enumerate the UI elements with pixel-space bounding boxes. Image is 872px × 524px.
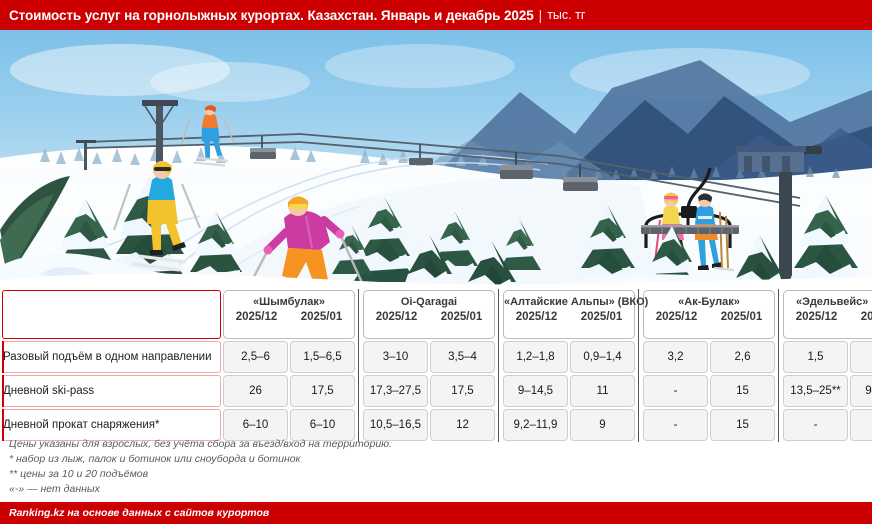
- period-2-1: 2025/01: [569, 311, 634, 323]
- resort-group-header-3: «Ак-Булак» 2025/12 2025/01: [643, 290, 775, 339]
- row-label-0: Разовый подъём в одном направлении: [2, 341, 221, 373]
- footnotes: Цены указаны для взрослых, без учёта сбо…: [9, 437, 709, 497]
- cell-1-7: 15: [710, 375, 775, 407]
- footer-bar: Ranking.kz на основе данных с сайтов кур…: [0, 502, 872, 524]
- cell-0-0: 2,5–6: [223, 341, 288, 373]
- illustration-svg: [0, 30, 872, 288]
- row-sep: [357, 341, 361, 373]
- pricing-table-wrap: «Шымбулак» 2025/12 2025/01 Oi-Qaragai 20…: [0, 288, 872, 434]
- cell-2-7: 15: [710, 409, 775, 441]
- cell-1-3: 17,5: [430, 375, 495, 407]
- cell-1-4: 9–14,5: [503, 375, 568, 407]
- cell-1-8: 13,5–25**: [783, 375, 848, 407]
- cell-0-4: 1,2–1,8: [503, 341, 568, 373]
- resort-name-2: «Алтайские Альпы» (ВКО): [504, 291, 634, 308]
- group-separator-0: [357, 290, 361, 339]
- resort-group-header-2: «Алтайские Альпы» (ВКО) 2025/12 2025/01: [503, 290, 635, 339]
- resort-group-header-0: «Шымбулак» 2025/12 2025/01: [223, 290, 355, 339]
- row-sep: [777, 341, 781, 373]
- infographic-page: Стоимость услуг на горнолыжных курортах.…: [0, 0, 872, 524]
- cell-0-9: 1: [850, 341, 872, 373]
- period-4-0: 2025/12: [784, 311, 849, 323]
- cell-1-2: 17,3–27,5: [363, 375, 428, 407]
- resort-group-header-4: «Эдельвейс» (ВКО) 2025/12 2025/01: [783, 290, 872, 339]
- cell-2-9: 7: [850, 409, 872, 441]
- period-2-0: 2025/12: [504, 311, 569, 323]
- group-separator-1: [497, 290, 501, 339]
- row-sep: [637, 375, 641, 407]
- cell-1-5: 11: [570, 375, 635, 407]
- group-separator-2: [637, 290, 641, 339]
- footnote-3: «-» — нет данных: [9, 482, 709, 497]
- cell-0-8: 1,5: [783, 341, 848, 373]
- footnote-2: ** цены за 10 и 20 подъёмов: [9, 467, 709, 482]
- row-sep: [497, 375, 501, 407]
- page-title: Стоимость услуг на горнолыжных курортах.…: [0, 8, 534, 23]
- resort-name-3: «Ак-Булак»: [644, 291, 774, 308]
- resort-group-header-1: Oi-Qaragai 2025/12 2025/01: [363, 290, 495, 339]
- cell-0-7: 2,6: [710, 341, 775, 373]
- source-credit: Ranking.kz на основе данных с сайтов кур…: [0, 507, 269, 519]
- header-unit: тыс. тг: [547, 8, 585, 22]
- table-row: Разовый подъём в одном направлении 2,5–6…: [2, 341, 872, 373]
- cell-2-8: -: [783, 409, 848, 441]
- header-blank-cell: [2, 290, 221, 339]
- period-3-0: 2025/12: [644, 311, 709, 323]
- footnote-1: * набор из лыж, палок и ботинок или сноу…: [9, 452, 709, 467]
- period-0-1: 2025/01: [289, 311, 354, 323]
- footnote-0: Цены указаны для взрослых, без учёта сбо…: [9, 437, 709, 452]
- resort-name-1: Oi-Qaragai: [364, 291, 494, 308]
- row-sep: [777, 375, 781, 407]
- cell-0-5: 0,9–1,4: [570, 341, 635, 373]
- row-sep: [497, 341, 501, 373]
- cell-1-6: -: [643, 375, 708, 407]
- period-1-0: 2025/12: [364, 311, 429, 323]
- ski-resort-illustration: [0, 30, 872, 288]
- header-separator: |: [534, 8, 548, 23]
- row-sep: [637, 341, 641, 373]
- period-4-1: 2025/01: [849, 311, 872, 323]
- row-sep: [777, 409, 781, 441]
- row-sep: [357, 375, 361, 407]
- cell-0-6: 3,2: [643, 341, 708, 373]
- cell-1-1: 17,5: [290, 375, 355, 407]
- resort-name-4: «Эдельвейс» (ВКО): [784, 291, 872, 308]
- table-header-row: «Шымбулак» 2025/12 2025/01 Oi-Qaragai 20…: [2, 290, 872, 339]
- table-row: Дневной ski-pass 26 17,5 17,3–27,5 17,5 …: [2, 375, 872, 407]
- cell-1-0: 26: [223, 375, 288, 407]
- period-3-1: 2025/01: [709, 311, 774, 323]
- pricing-table: «Шымбулак» 2025/12 2025/01 Oi-Qaragai 20…: [0, 288, 872, 443]
- header-bar: Стоимость услуг на горнолыжных курортах.…: [0, 0, 872, 30]
- row-label-1: Дневной ski-pass: [2, 375, 221, 407]
- cell-0-1: 1,5–6,5: [290, 341, 355, 373]
- period-0-0: 2025/12: [224, 311, 289, 323]
- period-1-1: 2025/01: [429, 311, 494, 323]
- cell-1-9: 9–17**: [850, 375, 872, 407]
- cell-0-2: 3–10: [363, 341, 428, 373]
- group-separator-3: [777, 290, 781, 339]
- resort-name-0: «Шымбулак»: [224, 291, 354, 308]
- cell-0-3: 3,5–4: [430, 341, 495, 373]
